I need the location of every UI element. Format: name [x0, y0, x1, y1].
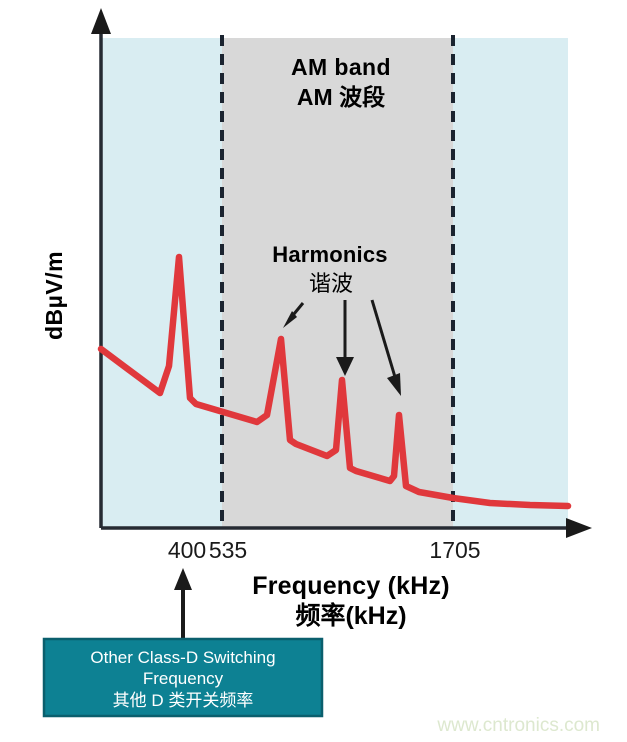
callout-line-1: Other Class-D Switching: [90, 648, 275, 667]
x-tick-label-535: 535: [209, 537, 247, 563]
watermark: www.cntronics.com: [436, 715, 600, 736]
x-axis-arrowhead: [566, 518, 592, 538]
x-tick-label-400: 400: [168, 537, 206, 563]
y-axis-title: dBµV/m: [41, 251, 67, 340]
harmonics-label-zh: 谐波: [309, 271, 353, 296]
y-axis-arrowhead: [91, 8, 111, 34]
am-band-label-zh: AM 波段: [297, 84, 385, 110]
callout-connector-arrow: [174, 568, 192, 639]
x-tick-label-1705: 1705: [429, 537, 480, 563]
callout-line-3: 其他 D 类开关频率: [113, 691, 254, 710]
emi-spectrum-figure: dBµV/m AM band AM 波段 Harmonics 谐波 400 53…: [0, 0, 627, 742]
x-axis-title-zh: 频率(kHz): [295, 601, 406, 630]
am-band-label-en: AM band: [291, 54, 391, 80]
x-axis-title-en: Frequency (kHz): [252, 572, 449, 600]
callout-line-2: Frequency: [143, 669, 224, 688]
harmonics-label-en: Harmonics: [272, 242, 388, 267]
